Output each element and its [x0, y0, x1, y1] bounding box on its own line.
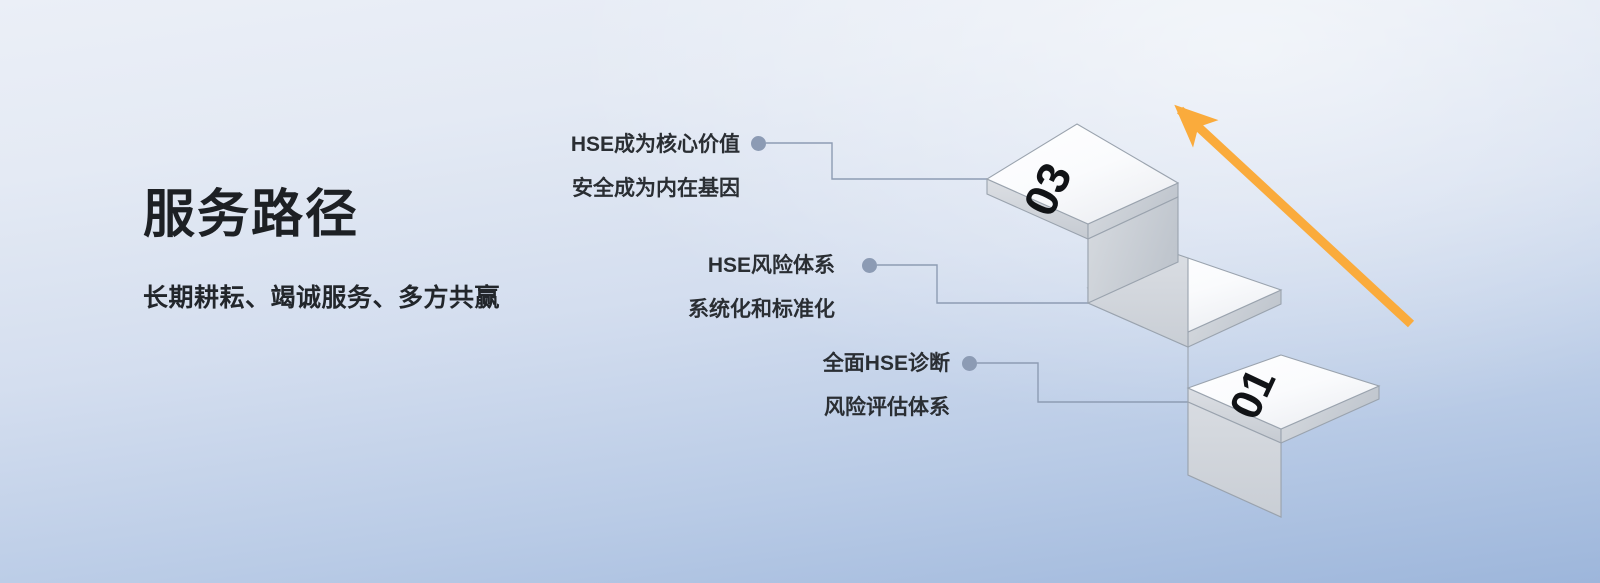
callout-step-02-line1: HSE风险体系 — [708, 254, 835, 277]
callout-dot-step-03[interactable] — [751, 136, 766, 151]
callout-step-02-line2: 系统化和标准化 — [455, 299, 835, 320]
step-block-03[interactable]: 03 — [987, 124, 1188, 347]
infographic-canvas: 服务路径 长期耕耘、竭诚服务、多方共赢 — [0, 0, 1600, 583]
callout-step-02: HSE风险体系 系统化和标准化 — [455, 255, 835, 320]
callout-dot-step-01[interactable] — [962, 356, 977, 371]
callout-step-03-line2: 安全成为内在基因 — [330, 178, 740, 199]
callout-step-01-line1: 全面HSE诊断 — [823, 352, 950, 375]
callout-step-01-line2: 风险评估体系 — [560, 397, 950, 418]
callout-step-01: 全面HSE诊断 风险评估体系 — [560, 353, 950, 418]
connector-step-02 — [877, 265, 1088, 303]
callout-dot-step-02[interactable] — [862, 258, 877, 273]
connector-step-01 — [977, 363, 1188, 402]
callout-step-03-line1: HSE成为核心价值 — [571, 133, 740, 156]
callout-step-03: HSE成为核心价值 安全成为内在基因 — [330, 134, 740, 199]
connector-step-03 — [766, 143, 987, 179]
